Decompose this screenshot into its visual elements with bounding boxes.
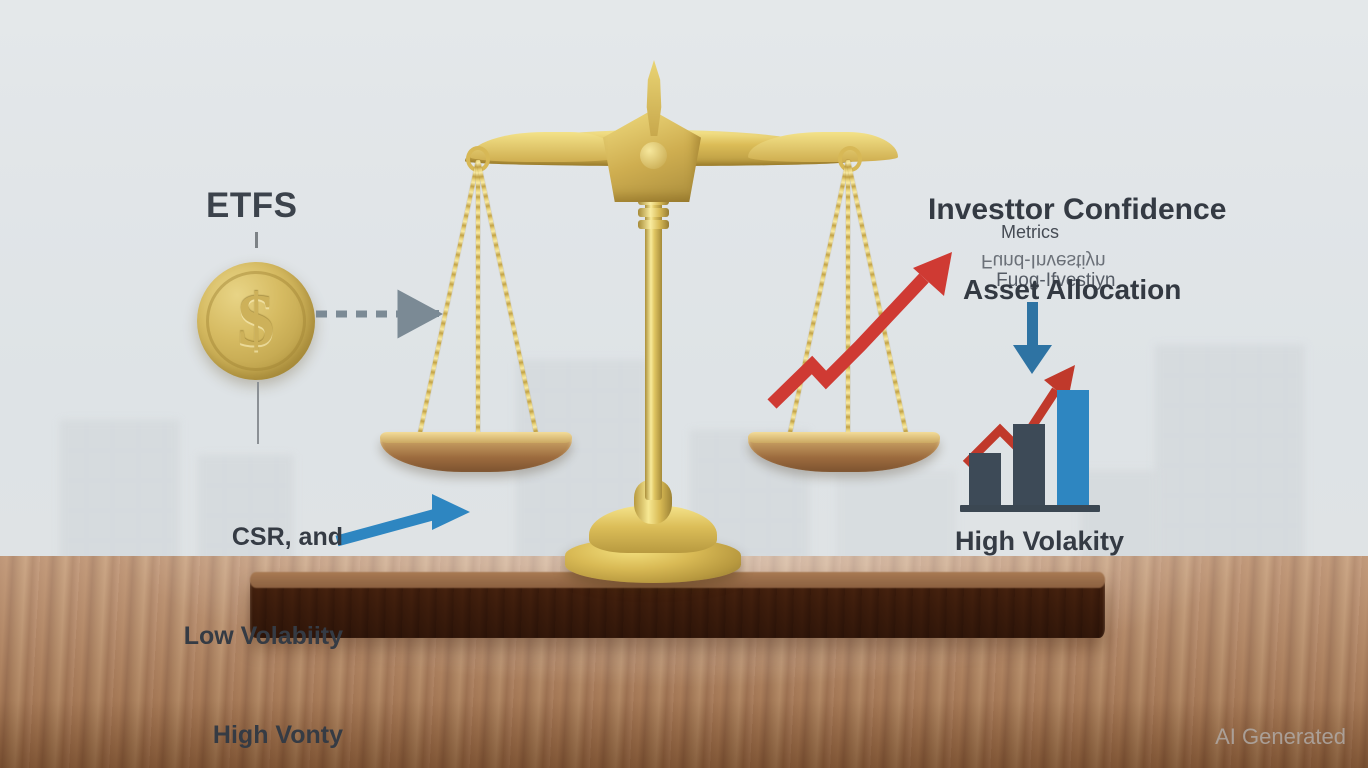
- left-caption-block: CSR, and Low Volabiity High Vonty: [183, 455, 343, 768]
- background-building-5: [1155, 345, 1305, 590]
- chart-bar-1: [969, 453, 1001, 506]
- metrics-label: Metrics: [1001, 222, 1059, 243]
- garbled-text-secondary: Fund-Investiyn: [981, 249, 1106, 271]
- coin-dollar-symbol: $: [197, 262, 315, 380]
- infographic-scene: $: [0, 0, 1368, 768]
- high-volatility-label: High Volakity: [955, 526, 1124, 557]
- left-caption-line-2: Low Volabiity: [161, 620, 343, 653]
- scale-column-ring: [638, 220, 669, 229]
- left-caption-line-3: High Vonty: [177, 719, 343, 752]
- asset-allocation-label: Asset Allocation: [963, 274, 1181, 306]
- scale-column-ring: [638, 208, 669, 217]
- chain-left-middle: [476, 160, 480, 445]
- chart-bar-2: [1013, 424, 1045, 506]
- right-pan-rim: [748, 432, 940, 443]
- building-window-grid: [1155, 345, 1305, 590]
- bar-chart: [960, 390, 1100, 512]
- etfs-label: ETFS: [206, 186, 297, 226]
- ai-generated-watermark: AI Generated: [1215, 724, 1346, 750]
- dollar-coin-icon: $: [197, 262, 315, 380]
- left-pan-rim: [380, 432, 572, 443]
- scale-medallion-dot: [640, 142, 667, 169]
- chain-right-middle: [846, 160, 850, 445]
- chart-bar-3: [1057, 390, 1089, 506]
- investor-confidence-label: Investtor Confidence: [928, 193, 1226, 227]
- chart-baseline: [960, 505, 1100, 512]
- left-caption-line-1: CSR, and: [183, 521, 343, 554]
